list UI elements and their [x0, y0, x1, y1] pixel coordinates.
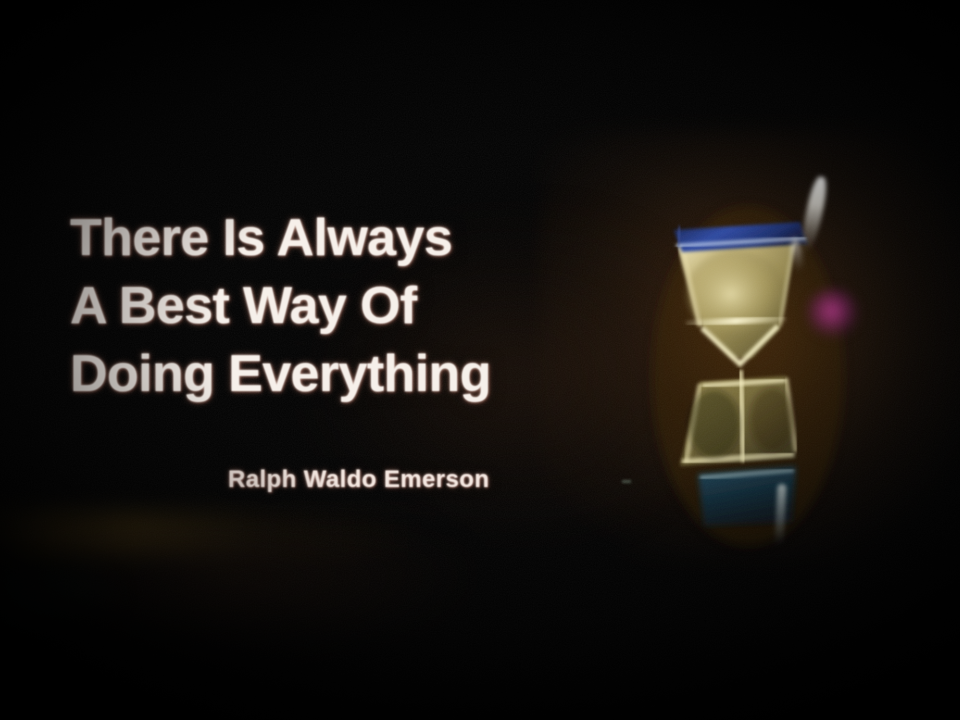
quote-line-1: There Is Always	[70, 204, 670, 272]
attribution-dash-marker	[622, 480, 631, 483]
hourglass-image	[640, 186, 860, 556]
quote-line-3: Doing Everything	[70, 340, 670, 408]
hourglass-svg	[640, 186, 860, 556]
hourglass-cap-left-side	[678, 226, 680, 248]
quote-attribution: Ralph Waldo Emerson	[228, 466, 489, 494]
hourglass-lower-shadow-left	[688, 390, 740, 458]
hourglass-lower-shadow-right	[750, 388, 794, 452]
video-frame: There Is Always A Best Way Of Doing Ever…	[0, 0, 960, 720]
bokeh-light-magenta	[806, 288, 860, 338]
quote-line-2: A Best Way Of	[70, 272, 670, 340]
ambient-glow-lower-left	[60, 540, 480, 660]
ambient-teal-glow	[0, 560, 120, 630]
quote-block: There Is Always A Best Way Of Doing Ever…	[70, 204, 670, 408]
